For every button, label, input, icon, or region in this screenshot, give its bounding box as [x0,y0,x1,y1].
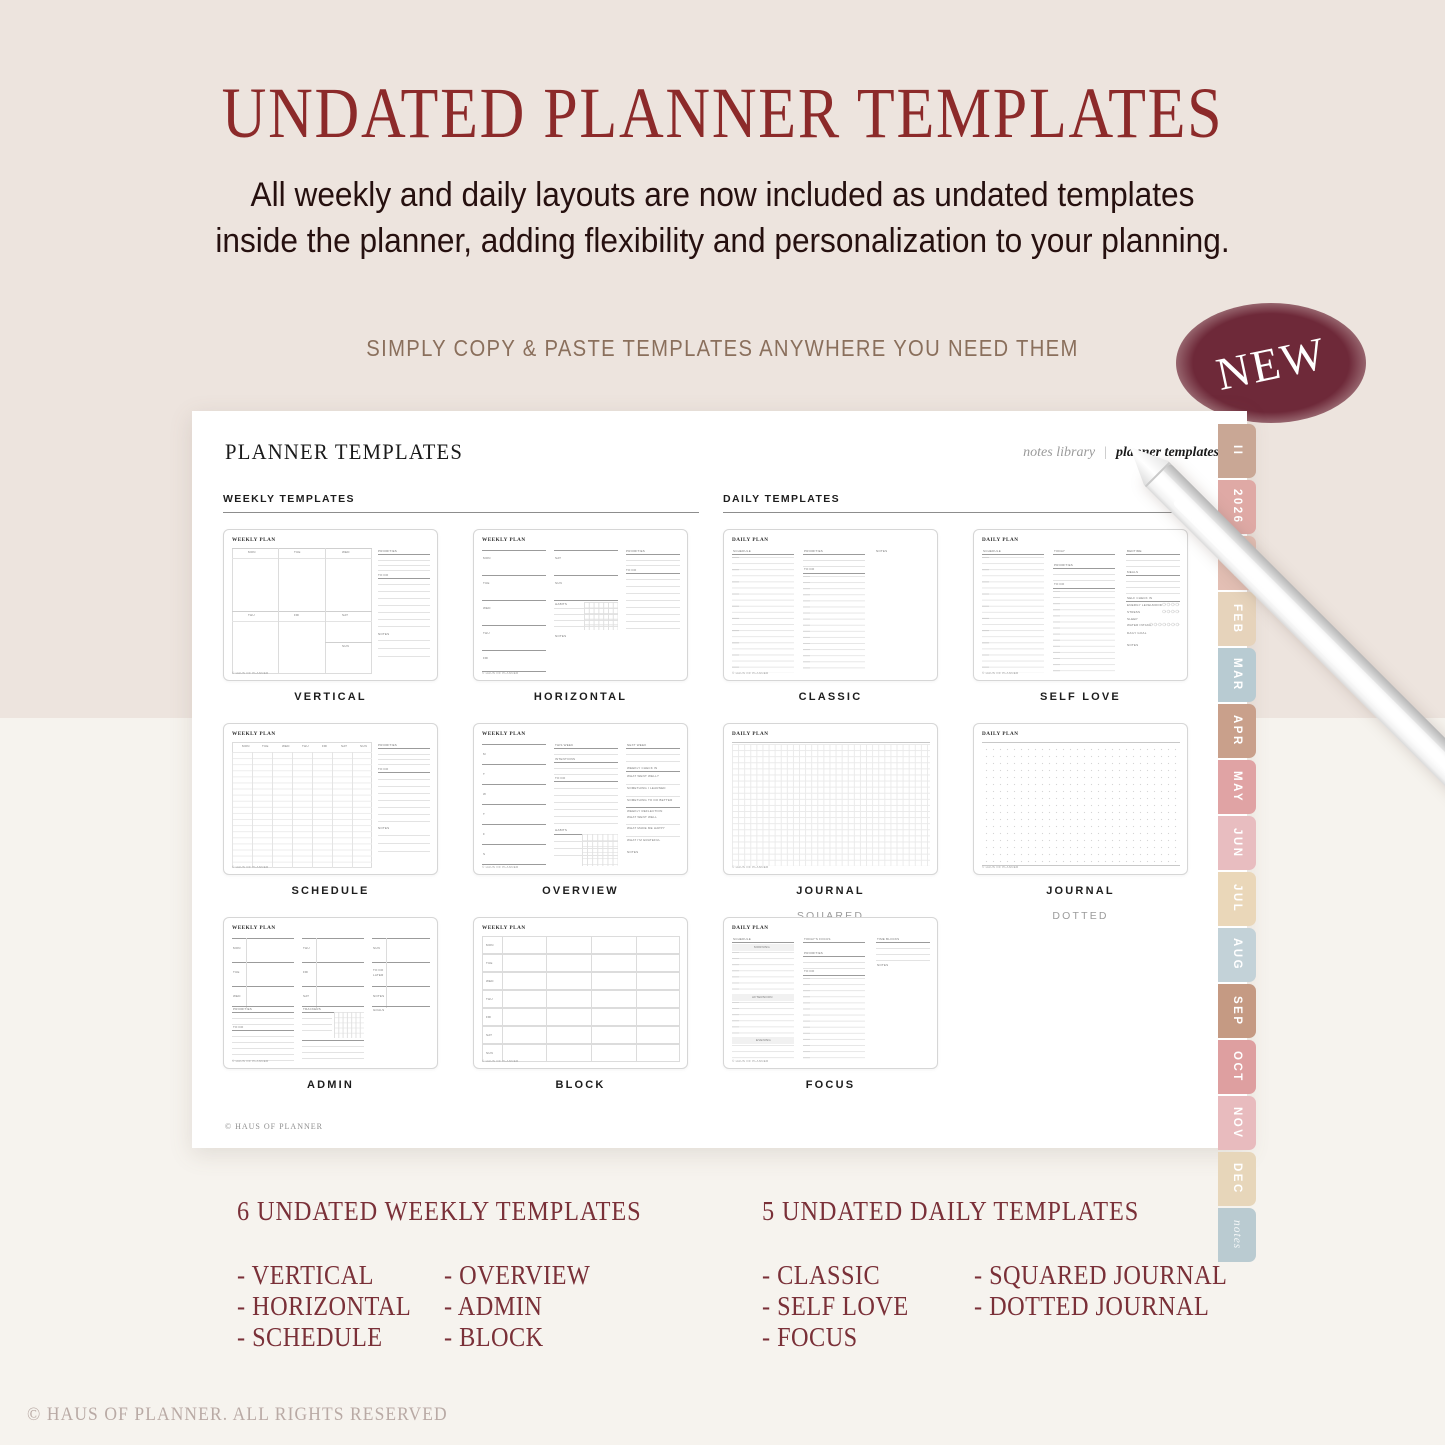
template-thumbnail-self-love[interactable]: DAILY PLAN SCHEDULE TODAY PRIORITIES TO … [973,529,1188,681]
column-rule-daily [723,512,1199,513]
template-caption-schedule: SCHEDULE [223,885,438,897]
thumb-footer: © HAUS OF PLANNER [482,865,518,869]
tab-label: JUL [1231,884,1243,913]
template-caption-focus: FOCUS [723,1079,938,1091]
thumb-footer: © HAUS OF PLANNER [732,1059,768,1063]
template-thumbnail-schedule[interactable]: WEEKLY PLAN MON TUE WED THU FRI SAT SUN … [223,723,438,875]
template-caption-self-love: SELF LOVE [973,691,1188,703]
tab-label: JUN [1231,828,1243,859]
summary-daily-item-2: - SELF LOVE [762,1291,909,1322]
tab-label: MAR [1231,658,1243,692]
thumb-title: WEEKLY PLAN [232,731,276,737]
tab-label: II [1231,445,1243,456]
template-caption-classic: CLASSIC [723,691,938,703]
summary-weekly-item-4: - OVERVIEW [444,1260,590,1291]
thumb-title: DAILY PLAN [732,731,768,737]
planner-page: PLANNER TEMPLATES notes library | planne… [192,411,1247,1148]
tab-oct[interactable]: OCT [1218,1040,1256,1094]
template-thumbnail-admin[interactable]: WEEKLY PLAN MON TUE WED THU FRI SAT SUN … [223,917,438,1069]
tab-dec[interactable]: DEC [1218,1152,1256,1206]
breadcrumb-notes-library[interactable]: notes library [1023,445,1095,461]
summary-daily-item-3: - FOCUS [762,1322,858,1353]
thumb-title: WEEKLY PLAN [482,731,526,737]
tab-aug[interactable]: AUG [1218,928,1256,982]
template-thumbnail-journal-squared[interactable]: DAILY PLAN © HAUS OF PLANNER [723,723,938,875]
summary-daily-item-4: - SQUARED JOURNAL [974,1260,1227,1291]
thumb-footer: © HAUS OF PLANNER [732,865,768,869]
template-caption-vertical: VERTICAL [223,691,438,703]
planner-footer: © HAUS OF PLANNER [225,1122,323,1131]
page-subheadline: All weekly and daily layouts are now inc… [51,172,1395,264]
thumb-footer: © HAUS OF PLANNER [232,671,268,675]
tab-may[interactable]: MAY [1218,760,1256,814]
template-caption-journal-squared: JOURNAL [723,885,938,897]
template-caption-overview: OVERVIEW [473,885,688,897]
tab-jul[interactable]: JUL [1218,872,1256,926]
template-thumbnail-focus[interactable]: DAILY PLAN SCHEDULE MORNING AFTERNOON EV… [723,917,938,1069]
tab-label: FEB [1231,604,1243,635]
tab-label: MAY [1231,771,1243,803]
tab-label: AUG [1231,938,1243,971]
tab-label: DEC [1231,1163,1243,1195]
template-thumbnail-overview[interactable]: WEEKLY PLAN M T W T F S THIS WEEK INTENT… [473,723,688,875]
template-caption-horizontal: HORIZONTAL [473,691,688,703]
page-headline: UNDATED PLANNER TEMPLATES [101,72,1344,155]
template-thumbnail-journal-dotted[interactable]: DAILY PLAN © HAUS OF PLANNER [973,723,1188,875]
template-thumbnail-vertical[interactable]: WEEKLY PLAN MON TUE WED THU FRI SAT SUN … [223,529,438,681]
tab-feb[interactable]: FEB [1218,592,1256,646]
tab-label: SEP [1231,996,1243,1027]
thumb-title: WEEKLY PLAN [482,537,526,543]
tab-label: NOV [1231,1107,1243,1139]
thumb-title: DAILY PLAN [732,925,768,931]
tab-jun[interactable]: JUN [1218,816,1256,870]
thumb-title: WEEKLY PLAN [232,925,276,931]
new-badge-label: NEW [1211,326,1330,401]
summary-weekly-item-1: - VERTICAL [237,1260,374,1291]
thumb-footer: © HAUS OF PLANNER [232,865,268,869]
summary-weekly-item-6: - BLOCK [444,1322,544,1353]
template-thumbnail-block[interactable]: WEEKLY PLAN MON TUE WED THU FRI SAT SUN … [473,917,688,1069]
new-badge: NEW [1176,303,1366,423]
tab-sep[interactable]: SEP [1218,984,1256,1038]
thumb-title: WEEKLY PLAN [232,537,276,543]
thumb-footer: © HAUS OF PLANNER [482,1059,518,1063]
breadcrumb-separator: | [1104,445,1107,461]
summary-title-daily: 5 UNDATED DAILY TEMPLATES [762,1196,1139,1227]
tab-ii[interactable]: II [1218,424,1256,478]
thumb-title: DAILY PLAN [982,731,1018,737]
tagline: SIMPLY COPY & PASTE TEMPLATES ANYWHERE Y… [87,335,1359,362]
subheadline-line-2: inside the planner, adding flexibility a… [51,218,1395,264]
tab-apr[interactable]: APR [1218,704,1256,758]
summary-title-weekly: 6 UNDATED WEEKLY TEMPLATES [237,1196,642,1227]
thumb-title: WEEKLY PLAN [482,925,526,931]
thumb-footer: © HAUS OF PLANNER [482,671,518,675]
subheadline-line-1: All weekly and daily layouts are now inc… [51,172,1395,218]
thumb-footer: © HAUS OF PLANNER [982,865,1018,869]
tab-notes[interactable]: notes [1218,1208,1256,1262]
page-copyright: © HAUS OF PLANNER. ALL RIGHTS RESERVED [27,1404,448,1426]
thumb-footer: © HAUS OF PLANNER [232,1059,268,1063]
summary-weekly-item-3: - SCHEDULE [237,1322,383,1353]
template-thumbnail-classic[interactable]: DAILY PLAN SCHEDULE NOTES PRIORITIES TO … [723,529,938,681]
tab-label: OCT [1231,1051,1243,1083]
thumb-title: DAILY PLAN [732,537,768,543]
template-thumbnail-horizontal[interactable]: WEEKLY PLAN MON TUE WED THU FRI SAT SUN … [473,529,688,681]
column-rule-weekly [223,512,699,513]
thumb-footer: © HAUS OF PLANNER [982,671,1018,675]
tab-mar[interactable]: MAR [1218,648,1256,702]
tab-nov[interactable]: NOV [1218,1096,1256,1150]
template-caption-admin: ADMIN [223,1079,438,1091]
tab-label: 2026 [1231,489,1243,525]
thumb-title: DAILY PLAN [982,537,1018,543]
tab-label: APR [1231,715,1243,747]
template-caption-block: BLOCK [473,1079,688,1091]
column-heading-daily: DAILY TEMPLATES [723,493,840,505]
summary-weekly-item-2: - HORIZONTAL [237,1291,411,1322]
summary-weekly-item-5: - ADMIN [444,1291,542,1322]
tab-label: notes [1231,1220,1243,1249]
template-subcaption-dotted: DOTTED [973,910,1188,922]
summary-daily-item-5: - DOTTED JOURNAL [974,1291,1209,1322]
summary-daily-item-1: - CLASSIC [762,1260,880,1291]
planner-page-title: PLANNER TEMPLATES [225,439,463,465]
column-heading-weekly: WEEKLY TEMPLATES [223,493,355,505]
template-caption-journal-dotted: JOURNAL [973,885,1188,897]
